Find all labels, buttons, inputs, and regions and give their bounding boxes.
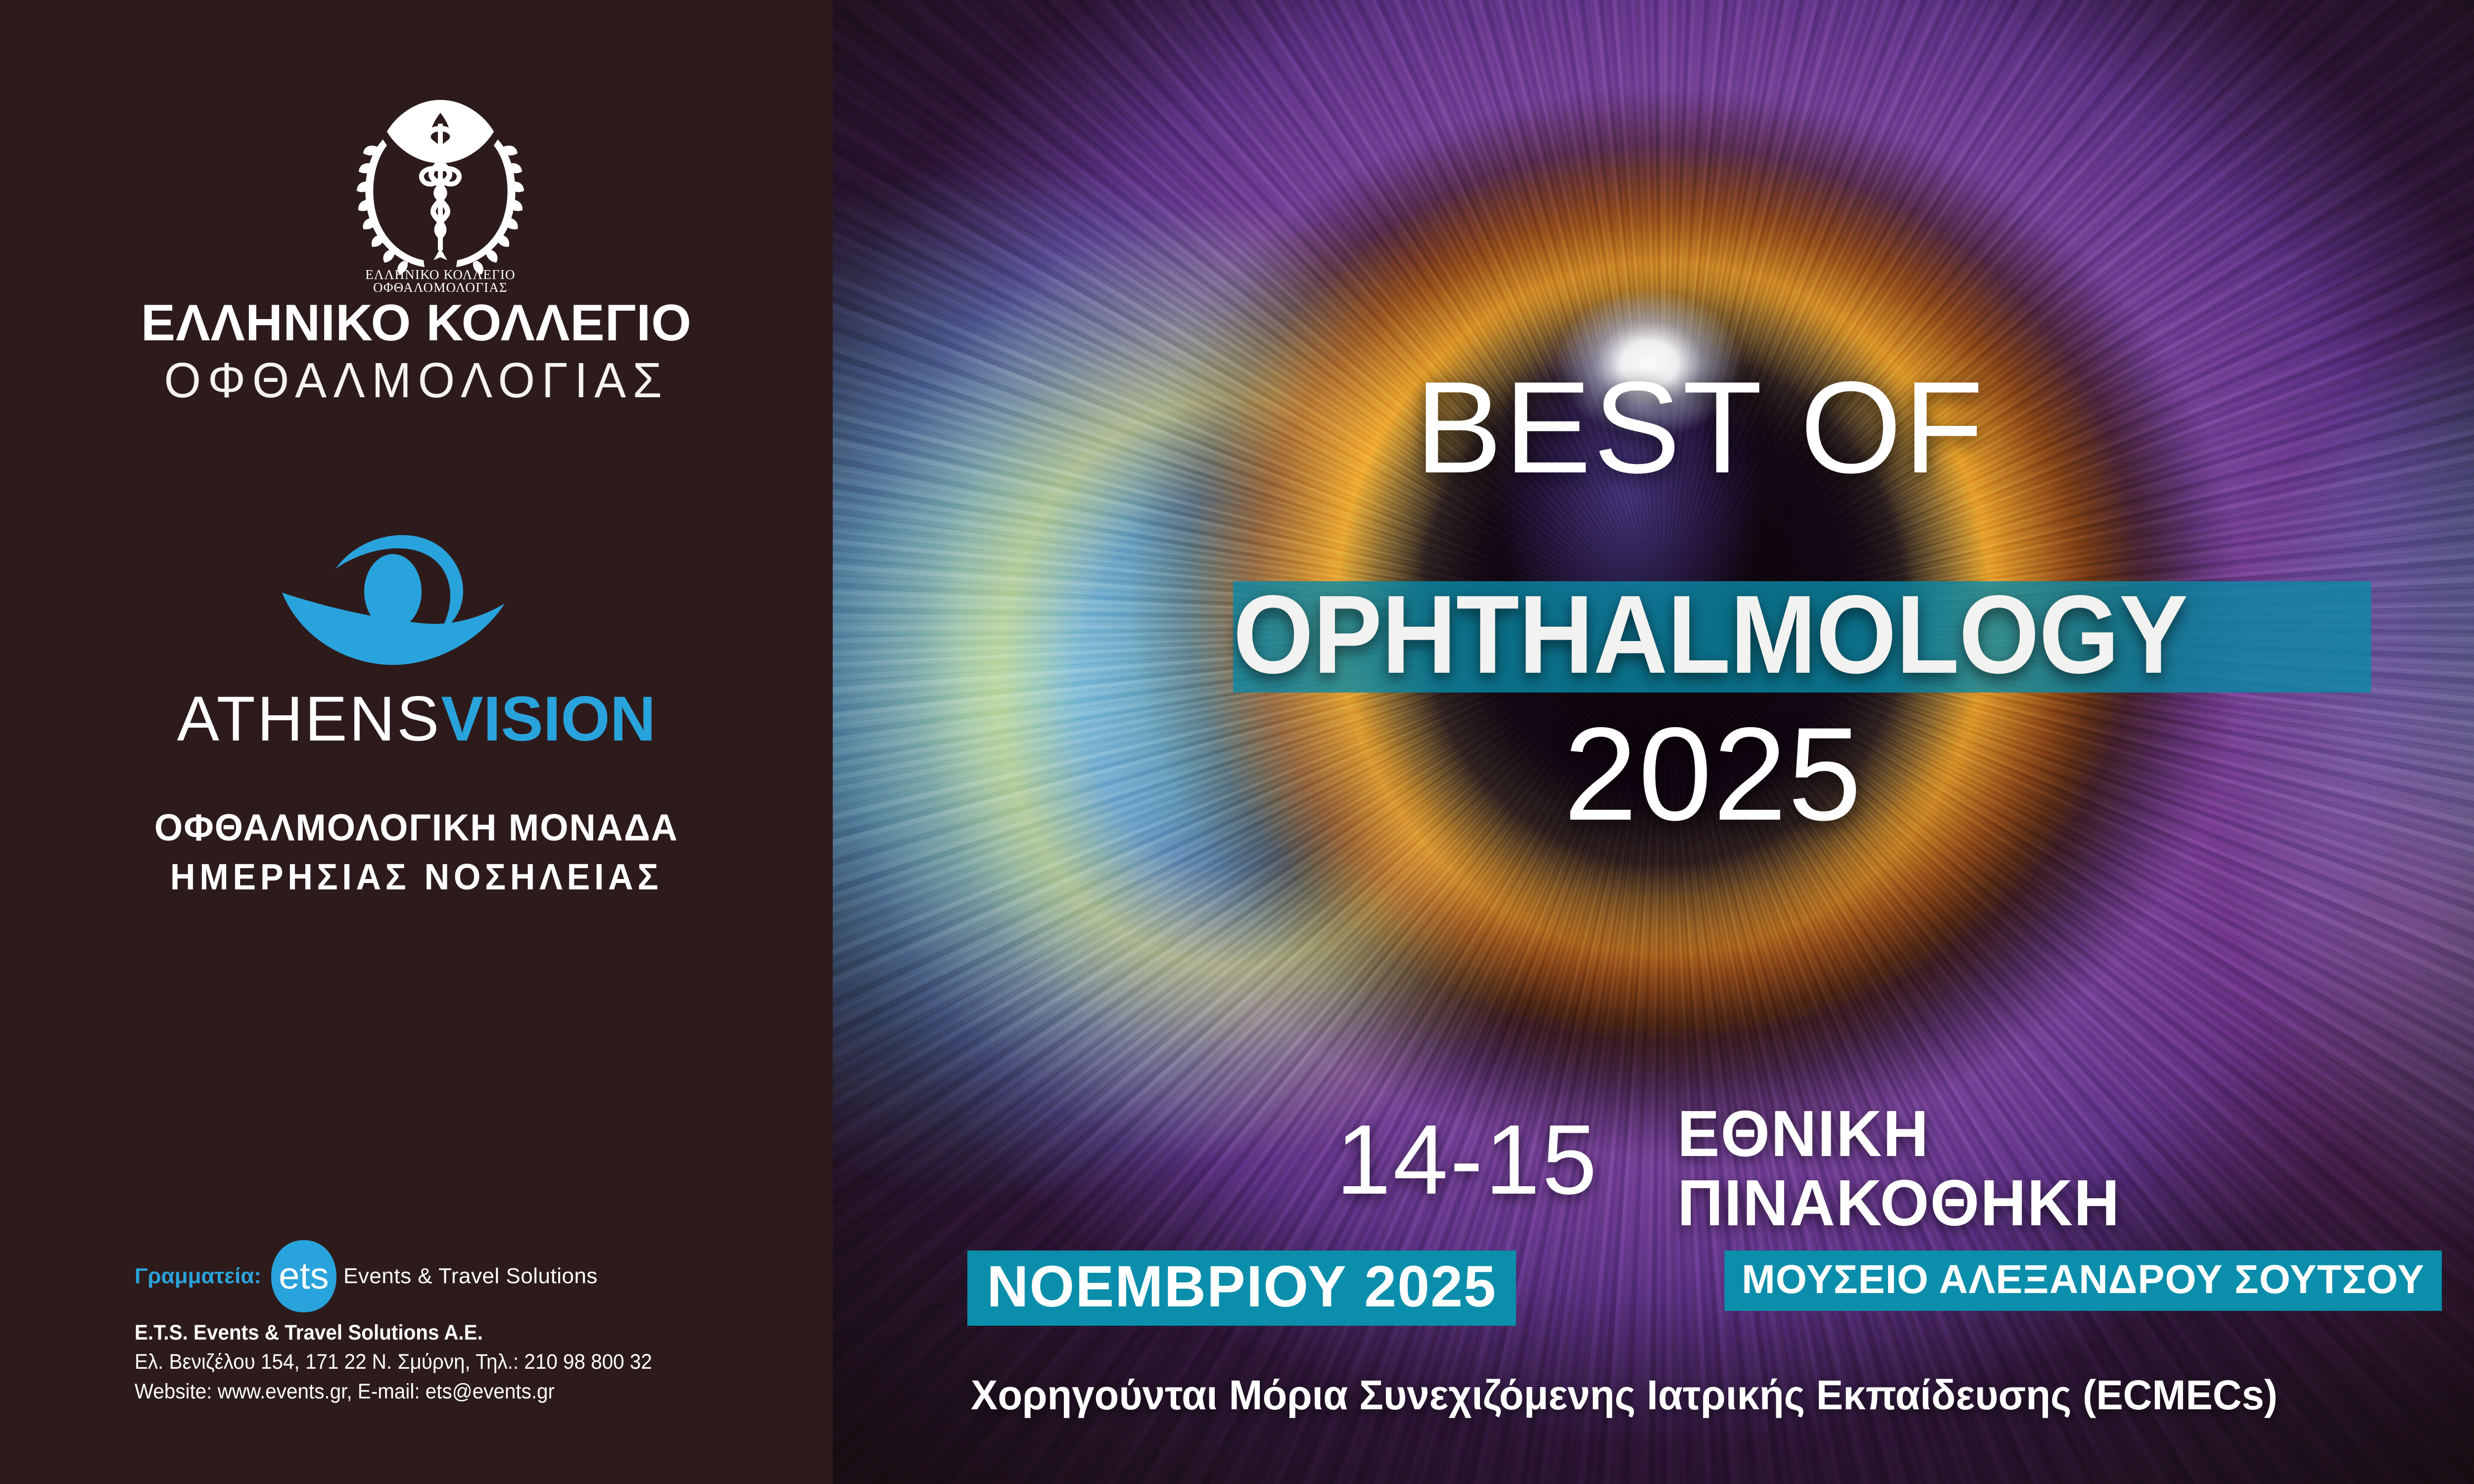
- month-year-badge: ΝΟΕΜΒΡΙΟΥ 2025: [967, 1251, 1516, 1326]
- conference-poster: BEST OF OPHTHALMOLOGY 2025 14-15 ΝΟΕΜΒΡΙ…: [0, 0, 2474, 1484]
- museum-badge: ΜΟΥΣΕΙΟ ΑΛΕΞΑΝΔΡΟΥ ΣΟΥΤΣΟΥ: [1724, 1251, 2442, 1311]
- event-dates: 14-15: [1336, 1111, 1599, 1209]
- venue-line-2: ΠΙΝΑΚΟΘΗΚΗ: [1677, 1168, 2121, 1238]
- ecmec-credits-note: Χορηγούνται Μόρια Συνεχιζόμενης Ιατρικής…: [971, 1374, 2278, 1416]
- month-year-label: ΝΟΕΜΒΡΙΟΥ 2025: [987, 1257, 1497, 1316]
- venue-line-1: ΕΘΝΙΚΗ: [1677, 1099, 1930, 1168]
- date-venue-block: 14-15 ΝΟΕΜΒΡΙΟΥ 2025 ΕΘΝΙΚΗ ΠΙΝΑΚΟΘΗΚΗ Μ…: [0, 0, 2474, 1484]
- museum-label: ΜΟΥΣΕΙΟ ΑΛΕΞΑΝΔΡΟΥ ΣΟΥΤΣΟΥ: [1742, 1259, 2425, 1300]
